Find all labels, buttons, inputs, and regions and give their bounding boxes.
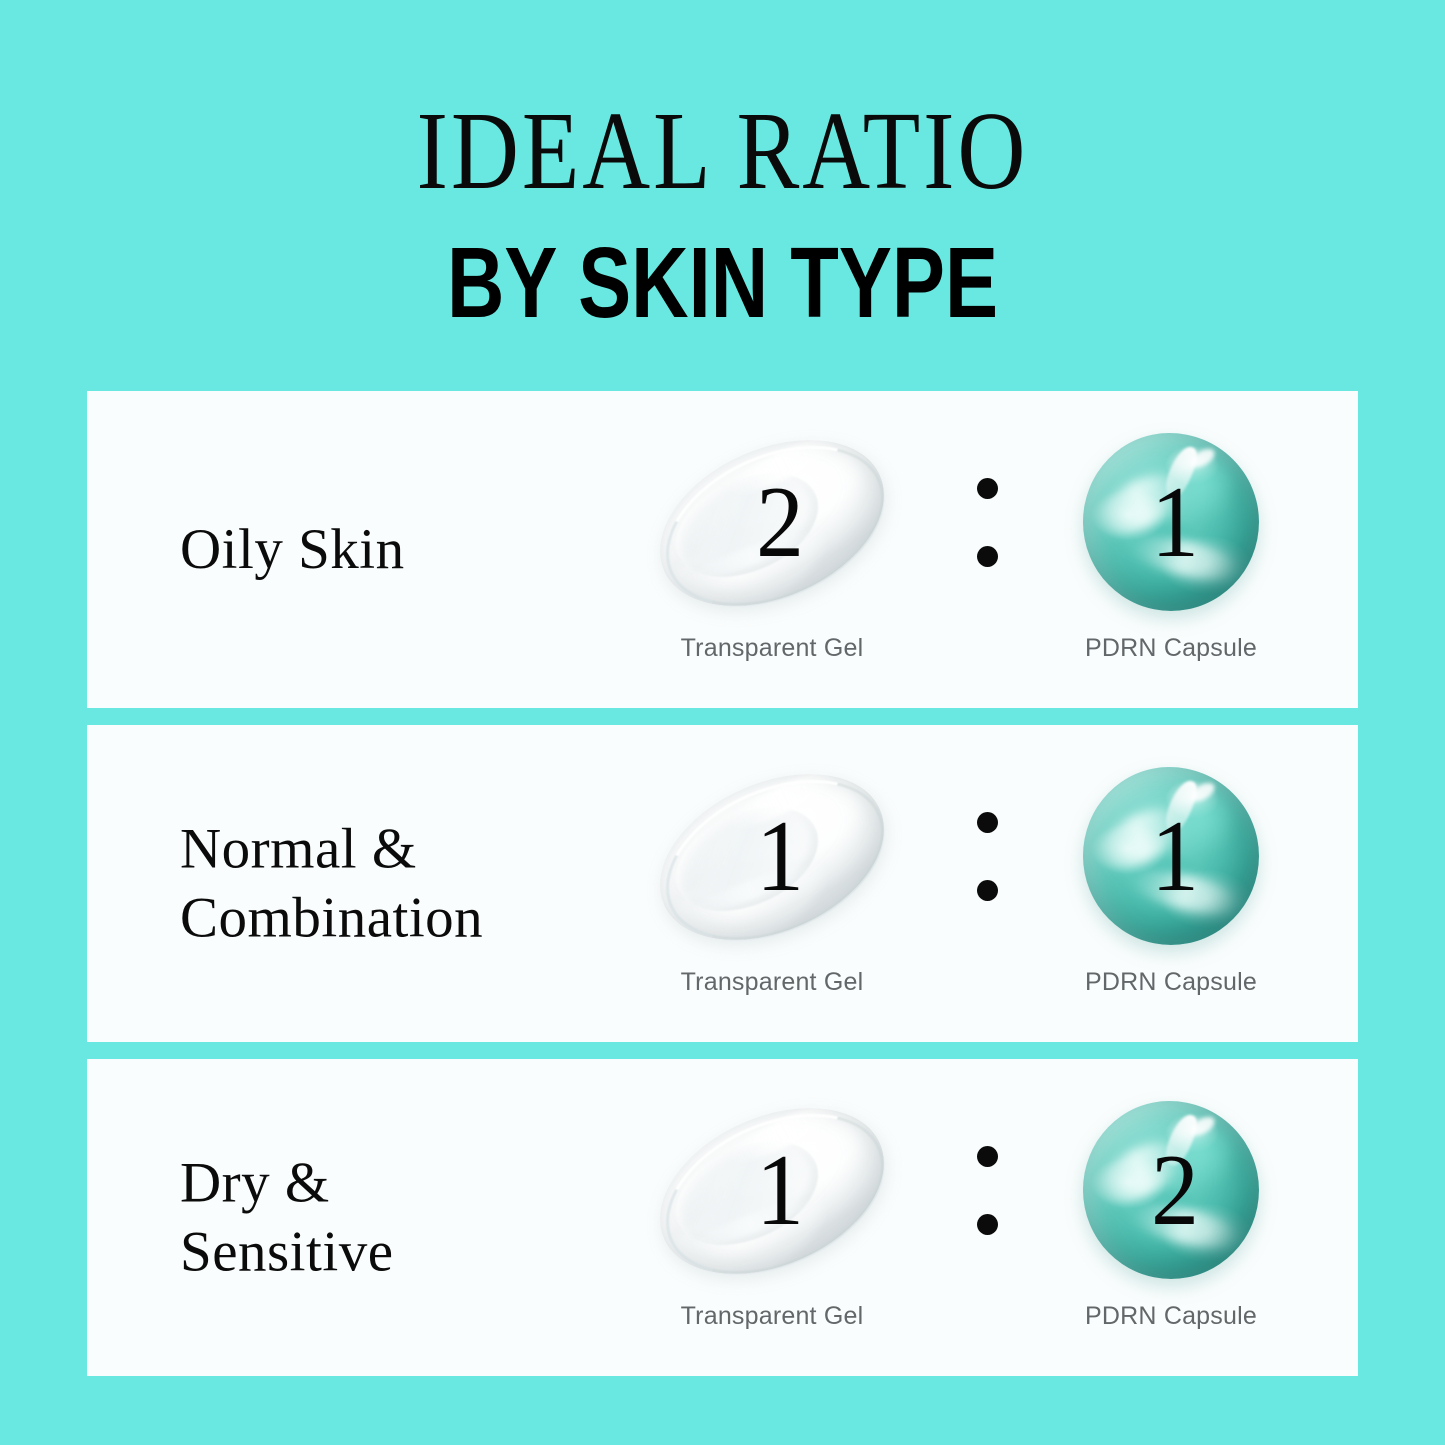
gel-visual: 1 [622,757,922,955]
ratio-separator [969,1091,1009,1289]
ratio-card-normal-combination: Normal & Combination 1 Transparent Gel [87,725,1358,1042]
gel-column: 1 Transparent Gel [622,1059,922,1376]
capsule-ratio-value: 1 [1021,751,1325,965]
ratio-card-list: Oily Skin 2 Transparent Gel [87,391,1358,1376]
capsule-caption: PDRN Capsule [1021,1302,1321,1331]
colon-dot-top [977,812,998,833]
capsule-column: 2 PDRN Capsule [1021,1059,1321,1376]
skin-type-label: Dry & Sensitive [180,1148,394,1287]
capsule-ratio-value: 1 [1021,417,1325,631]
gel-visual: 1 [622,1091,922,1289]
capsule-visual: 1 [1021,423,1321,621]
ratio-card-dry-sensitive: Dry & Sensitive 1 Transparent Gel [87,1059,1358,1376]
ratio-card-oily: Oily Skin 2 Transparent Gel [87,391,1358,708]
colon-dot-bottom [977,880,998,901]
ratio-separator [969,757,1009,955]
ratio-cluster: 1 Transparent Gel [617,725,1358,1042]
gel-caption: Transparent Gel [622,634,922,663]
capsule-caption: PDRN Capsule [1021,634,1321,663]
header: IDEAL RATIO BY SKIN TYPE [0,96,1445,308]
capsule-visual: 1 [1021,757,1321,955]
page-title-secondary: BY SKIN TYPE [22,190,1424,334]
gel-visual: 2 [622,423,922,621]
gel-column: 1 Transparent Gel [622,725,922,1042]
capsule-ratio-value: 2 [1021,1085,1325,1299]
gel-ratio-value: 1 [622,751,930,963]
skin-type-label: Normal & Combination [180,814,483,953]
capsule-caption: PDRN Capsule [1021,968,1321,997]
capsule-column: 1 PDRN Capsule [1021,725,1321,1042]
gel-ratio-value: 2 [622,417,930,629]
infographic-page: IDEAL RATIO BY SKIN TYPE Oily Skin [0,0,1445,1445]
gel-ratio-value: 1 [622,1085,930,1297]
gel-column: 2 Transparent Gel [622,391,922,708]
colon-dot-top [977,478,998,499]
colon-dot-bottom [977,1214,998,1235]
colon-dot-top [977,1146,998,1167]
ratio-cluster: 1 Transparent Gel [617,1059,1358,1376]
colon-dot-bottom [977,546,998,567]
ratio-separator [969,423,1009,621]
capsule-column: 1 PDRN Capsule [1021,391,1321,708]
gel-caption: Transparent Gel [622,1302,922,1331]
gel-caption: Transparent Gel [622,968,922,997]
skin-type-label: Oily Skin [180,515,405,585]
ratio-cluster: 2 Transparent Gel [617,391,1358,708]
capsule-visual: 2 [1021,1091,1321,1289]
